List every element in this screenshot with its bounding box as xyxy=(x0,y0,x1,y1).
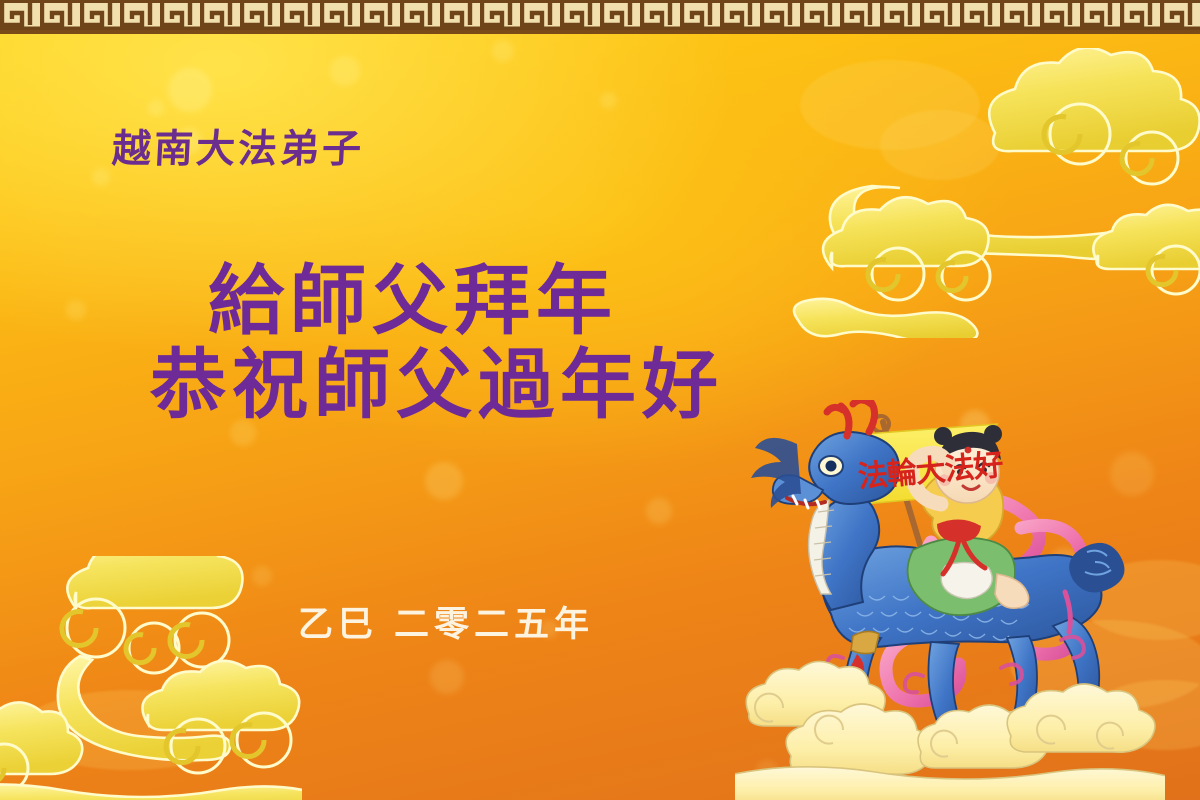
date-year: 二零二五年 xyxy=(394,605,594,645)
cloud-top-right-icon xyxy=(780,48,1200,338)
border-base-line xyxy=(0,30,1200,34)
child-riding-dragon-illustration xyxy=(735,400,1165,800)
greeting-line-1: 給師父拜年 xyxy=(208,262,724,340)
cloud-bottom-left-icon xyxy=(0,556,302,800)
greeting-line-2: 恭祝師父過年好 xyxy=(150,346,724,424)
greek-key-pattern xyxy=(0,3,1200,29)
greeting-block: 給師父拜年 恭祝師父過年好 xyxy=(150,262,724,423)
group-label-text: 越南大法弟子 xyxy=(111,130,365,169)
group-label: 越南大法弟子 xyxy=(112,130,364,169)
new-year-greeting-card: 越南大法弟子 給師父拜年 恭祝師父過年好 乙巳二零二五年 xyxy=(0,0,1200,800)
date-line: 乙巳二零二五年 xyxy=(298,608,594,643)
meander-border-top xyxy=(0,0,1200,34)
date-block: 乙巳二零二五年 xyxy=(298,608,594,643)
date-cyclic: 乙巳 xyxy=(298,605,378,645)
